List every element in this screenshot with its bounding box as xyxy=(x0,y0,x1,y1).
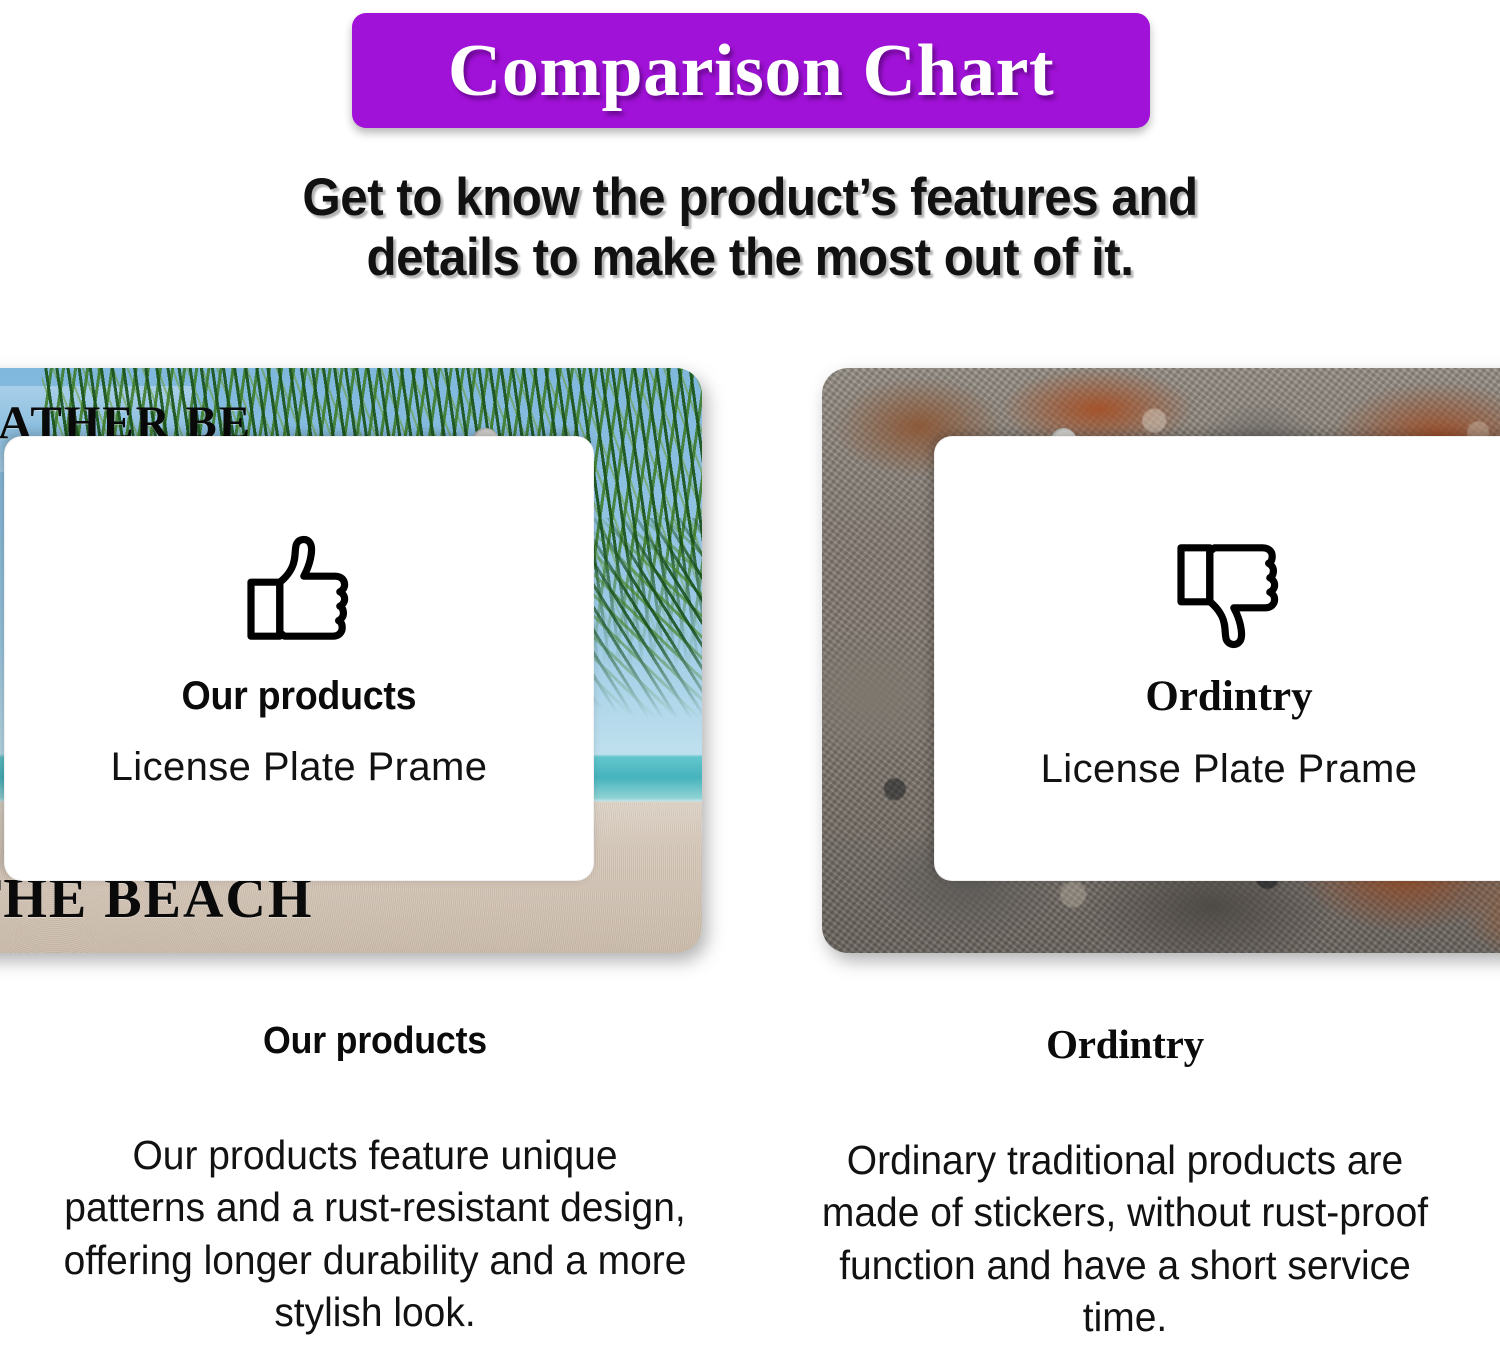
description-body-ordinary: Ordinary traditional products are made o… xyxy=(809,1134,1442,1344)
license-plate-frame-rust: Ordintry License Plate Prame xyxy=(822,368,1500,953)
panel-brand-ours: Our products xyxy=(182,674,417,719)
description-column-ordinary: Ordintry Ordinary traditional products a… xyxy=(750,1020,1500,1364)
page-title: Comparison Chart xyxy=(448,34,1054,108)
comparison-panels: RATHER BE THE BEACH Our products License… xyxy=(0,368,1500,968)
page-subtitle: Get to know the product’s features and d… xyxy=(53,168,1448,289)
license-plate-frame-beach: RATHER BE THE BEACH Our products License… xyxy=(0,368,702,953)
description-heading-ours: Our products xyxy=(62,1020,688,1063)
plate-window-ordinary: Ordintry License Plate Prame xyxy=(934,436,1500,881)
product-panel-ours: RATHER BE THE BEACH Our products License… xyxy=(0,368,702,953)
title-banner: Comparison Chart xyxy=(352,13,1150,128)
thumbs-down-icon xyxy=(1169,532,1289,650)
description-body-ours: Our products feature unique patterns and… xyxy=(59,1129,692,1339)
panel-product-name-ordinary: License Plate Prame xyxy=(1041,747,1418,792)
description-row: Our products Our products feature unique… xyxy=(0,1020,1500,1364)
plate-window-ours: Our products License Plate Prame xyxy=(4,436,594,881)
subtitle-line-2: details to make the most out of it. xyxy=(53,228,1448,288)
panel-product-name-ours: License Plate Prame xyxy=(111,745,488,790)
description-column-ours: Our products Our products feature unique… xyxy=(0,1020,750,1364)
product-panel-ordinary: Ordintry License Plate Prame xyxy=(822,368,1500,953)
description-heading-ordinary: Ordintry xyxy=(792,1020,1458,1068)
thumbs-up-icon xyxy=(239,534,359,652)
subtitle-line-1: Get to know the product’s features and xyxy=(53,168,1448,228)
panel-brand-ordinary: Ordintry xyxy=(1145,672,1312,721)
